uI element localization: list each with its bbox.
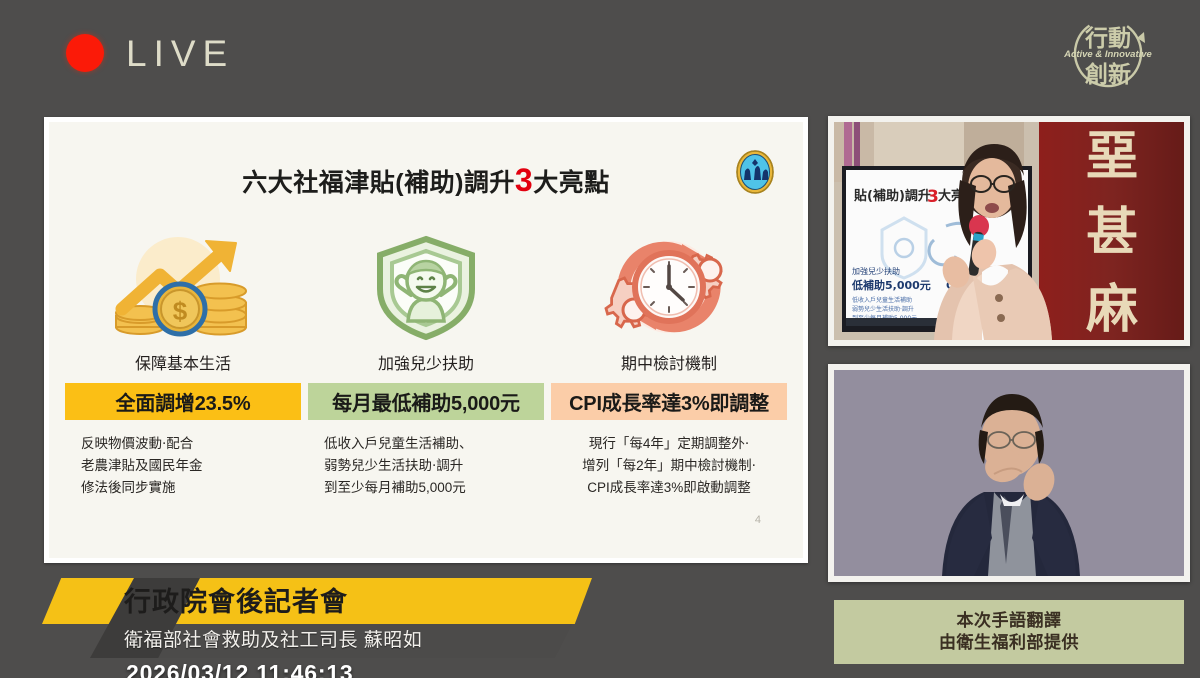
column-2-highlight: 每月最低補助5,000元: [308, 383, 544, 420]
slide-page-number: 4: [755, 514, 761, 526]
desc-line: 修法後同步實施: [81, 477, 301, 499]
desc-line: 弱勢兒少生活扶助‧調升: [324, 455, 544, 477]
svg-text:麻: 麻: [1086, 280, 1138, 340]
banner-timestamp: 2026/03/12 11:46:13: [126, 660, 354, 678]
column-3-caption: 期中檢討機制: [551, 350, 787, 374]
desc-line: 低收入戶兒童生活補助、: [324, 433, 544, 455]
broadcast-stage: LIVE 行動 Active & Innovative 創新 六大社福津貼(補助…: [0, 0, 1200, 678]
mohw-emblem-icon: [735, 149, 775, 195]
column-2-description: 低收入戶兒童生活補助、 弱勢兒少生活扶助‧調升 到至少每月補助5,000元: [308, 433, 544, 499]
svg-text:行動: 行動: [1084, 25, 1131, 52]
sign-language-notice: 本次手語翻譯 由衛生福利部提供: [834, 600, 1184, 664]
presentation-slide-frame: 六大社福津貼(補助)調升3大亮點: [44, 117, 808, 563]
sign-language-video-content: [834, 370, 1184, 576]
column-3-description: 現行「每4年」定期調整外‧ 增列「每2年」期中檢討機制‧ CPI成長率達3%即啟…: [551, 433, 787, 499]
slide-column-2: 加強兒少扶助 每月最低補助5,000元 低收入戶兒童生活補助、 弱勢兒少生活扶助…: [308, 228, 544, 499]
desc-line: 現行「每4年」定期調整外‧: [551, 433, 787, 455]
slide-columns: $ 保障基本生活 全面調增23.5% 反映物價波動‧配合 老農津貼及國民年金 修…: [65, 228, 787, 499]
live-label: LIVE: [126, 35, 234, 72]
svg-text:創新: 創新: [1085, 61, 1131, 88]
lower-third-banner: 行政院會後記者會 衛福部社會救助及社工司長 蘇昭如 2026/03/12 11:…: [42, 576, 602, 672]
sign-language-video: [828, 364, 1190, 582]
presentation-slide: 六大社福津貼(補助)調升3大亮點: [49, 122, 803, 558]
banner-title: 行政院會後記者會: [124, 582, 348, 622]
live-indicator-dot: [66, 34, 104, 72]
slide-title-accent: 3: [515, 162, 533, 198]
svg-text:低補助5,000元: 低補助5,000元: [851, 278, 931, 292]
column-1-description: 反映物價波動‧配合 老農津貼及國民年金 修法後同步實施: [65, 433, 301, 499]
svg-text:加強兒少扶助: 加強兒少扶助: [852, 266, 900, 276]
slide-column-3: 期中檢討機制 CPI成長率達3%即調整 現行「每4年」定期調整外‧ 增列「每2年…: [551, 228, 787, 499]
desc-line: 老農津貼及國民年金: [81, 455, 301, 477]
desc-line: 增列「每2年」期中檢討機制‧: [551, 455, 787, 477]
svg-text:弱勢兒少生活扶助‧調升: 弱勢兒少生活扶助‧調升: [852, 305, 914, 313]
slide-title-suffix: 大亮點: [533, 169, 610, 197]
svg-text:$: $: [173, 296, 188, 326]
svg-text:堊: 堊: [1086, 127, 1138, 187]
speaker-video: 堊 甚 麻 貼(補助)調升 3 大亮點 加強兒少扶助 低補助5,000元 CPI…: [828, 116, 1190, 346]
svg-text:Active & Innovative: Active & Innovative: [1063, 49, 1152, 60]
brand-logo: 行動 Active & Innovative 創新: [1038, 12, 1178, 94]
speaker-video-content: 堊 甚 麻 貼(補助)調升 3 大亮點 加強兒少扶助 低補助5,000元 CPI…: [834, 122, 1184, 340]
clock-gears-cycle-icon: [551, 228, 787, 346]
slide-title-prefix: 六大社福津貼(補助)調升: [242, 169, 515, 197]
column-1-caption: 保障基本生活: [65, 350, 301, 374]
slide-column-1: $ 保障基本生活 全面調增23.5% 反映物價波動‧配合 老農津貼及國民年金 修…: [65, 228, 301, 499]
notice-line-2: 由衛生福利部提供: [939, 632, 1079, 654]
banner-subtitle: 衛福部社會救助及社工司長 蘇昭如: [124, 626, 422, 656]
svg-text:甚: 甚: [1086, 203, 1138, 263]
desc-line: 反映物價波動‧配合: [81, 433, 301, 455]
slide-title: 六大社福津貼(補助)調升3大亮點: [49, 162, 803, 199]
live-badge: LIVE: [66, 34, 234, 72]
desc-line: 到至少每月補助5,000元: [324, 477, 544, 499]
column-1-highlight: 全面調增23.5%: [65, 383, 301, 420]
notice-line-1: 本次手語翻譯: [957, 610, 1062, 632]
column-2-caption: 加強兒少扶助: [308, 350, 544, 374]
desc-line: CPI成長率達3%即啟動調整: [551, 477, 787, 499]
svg-text:低收入戶兒童生活補助: 低收入戶兒童生活補助: [852, 296, 912, 304]
coins-growth-arrow-icon: $: [65, 228, 301, 346]
svg-text:貼(補助)調升: 貼(補助)調升: [854, 188, 931, 204]
column-3-highlight: CPI成長率達3%即調整: [551, 383, 787, 420]
child-shield-icon: [308, 228, 544, 346]
